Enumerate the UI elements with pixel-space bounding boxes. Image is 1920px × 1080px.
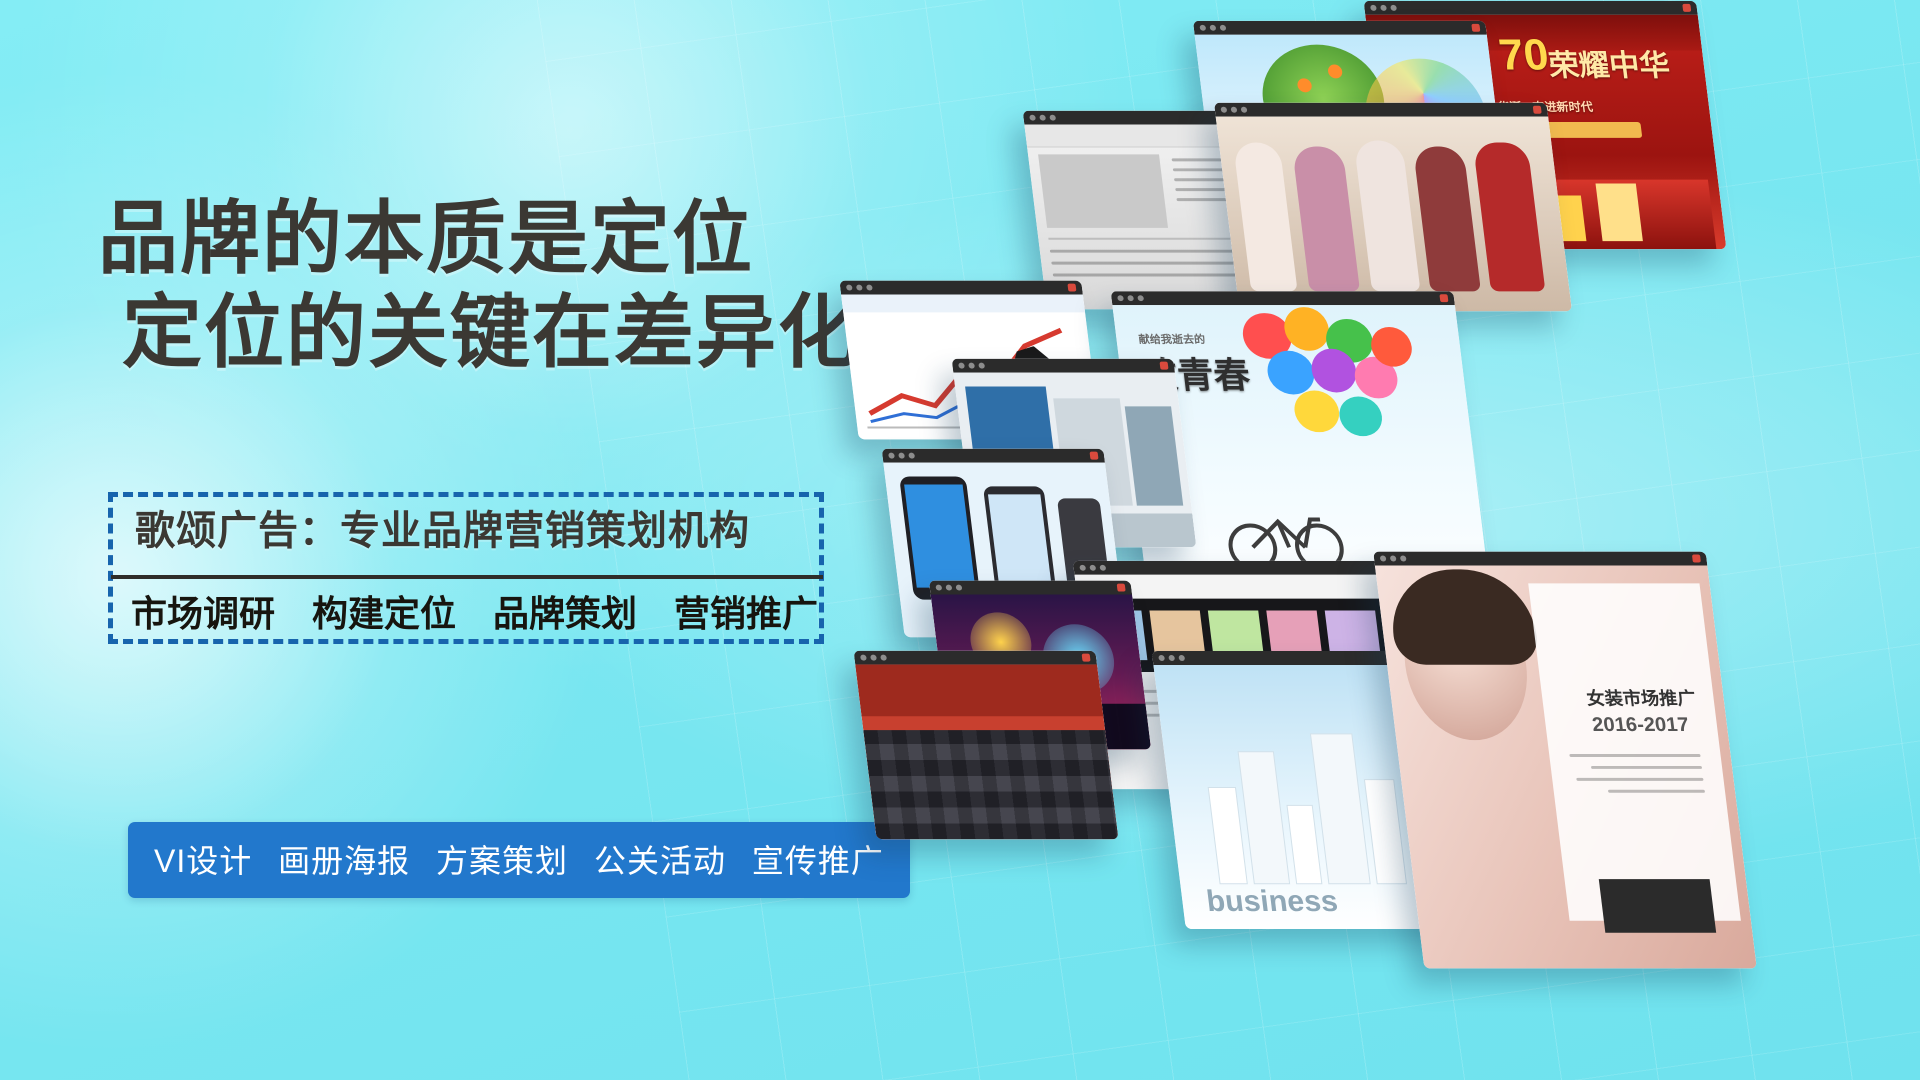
browser-chrome-bar xyxy=(1373,552,1707,566)
card-conference[interactable] xyxy=(854,651,1119,840)
service-item-0: 市场调研 xyxy=(131,594,275,634)
card-wedding-dress[interactable] xyxy=(1214,103,1572,311)
card-artwork xyxy=(1216,117,1572,312)
headline-line-1: 品牌的本质是定位 xyxy=(98,196,858,282)
portfolio-collage: 70 荣耀中华 盛世华诞 · 奋进新时代 xyxy=(840,0,1920,1080)
card-subcaption: 2016-2017 xyxy=(1591,714,1690,737)
card-subcaption: business xyxy=(1205,885,1340,919)
banner-canvas: 品牌的本质是定位 定位的关键在差异化 歌颂广告：专业品牌营销策划机构 市场调研 … xyxy=(0,0,1920,1080)
headline-line-2: 定位的关键在差异化 xyxy=(122,290,858,376)
cta-item-0: VI设计 xyxy=(154,843,252,879)
agency-callout-box: 歌颂广告：专业品牌营销策划机构 市场调研 构建定位 品牌策划 营销推广 xyxy=(108,492,824,644)
cta-item-3: 公关活动 xyxy=(594,843,726,879)
browser-chrome-bar xyxy=(1193,21,1487,35)
browser-chrome-bar xyxy=(952,359,1175,373)
cta-item-1: 画册海报 xyxy=(278,843,410,879)
browser-chrome-bar xyxy=(929,581,1132,595)
card-artwork: 女装市场推广 2016-2017 xyxy=(1375,565,1757,968)
browser-chrome-bar xyxy=(1073,561,1397,575)
card-badge: 70 xyxy=(1496,31,1551,81)
browser-chrome-bar xyxy=(839,281,1083,295)
browser-chrome-bar xyxy=(854,651,1098,665)
cta-item-2: 方案策划 xyxy=(436,843,568,879)
card-artwork xyxy=(855,665,1118,840)
browser-chrome-bar xyxy=(1214,103,1548,117)
left-content-panel: 品牌的本质是定位 定位的关键在差异化 歌颂广告：专业品牌营销策划机构 市场调研 … xyxy=(0,0,900,1080)
service-item-3: 营销推广 xyxy=(674,594,818,634)
service-item-1: 构建定位 xyxy=(312,594,456,634)
service-item-2: 品牌策划 xyxy=(493,594,637,634)
browser-chrome-bar xyxy=(1364,1,1698,15)
browser-chrome-bar xyxy=(882,449,1105,463)
card-caption: 女装市场推广 xyxy=(1585,685,1697,711)
browser-chrome-bar xyxy=(1111,291,1455,305)
card-subcaption: 献给我逝去的 xyxy=(1138,331,1206,347)
agency-tagline: 歌颂广告：专业品牌营销策划机构 xyxy=(135,491,855,571)
services-cta-button[interactable]: VI设计 画册海报 方案策划 公关活动 宣传推广 xyxy=(128,822,910,898)
page-title: 品牌的本质是定位 定位的关键在差异化 xyxy=(98,196,858,377)
card-beauty-promo[interactable]: 女装市场推广 2016-2017 xyxy=(1373,552,1757,969)
card-caption: 荣耀中华 xyxy=(1546,41,1672,85)
service-list: 市场调研 构建定位 品牌策划 营销推广 xyxy=(131,579,891,649)
